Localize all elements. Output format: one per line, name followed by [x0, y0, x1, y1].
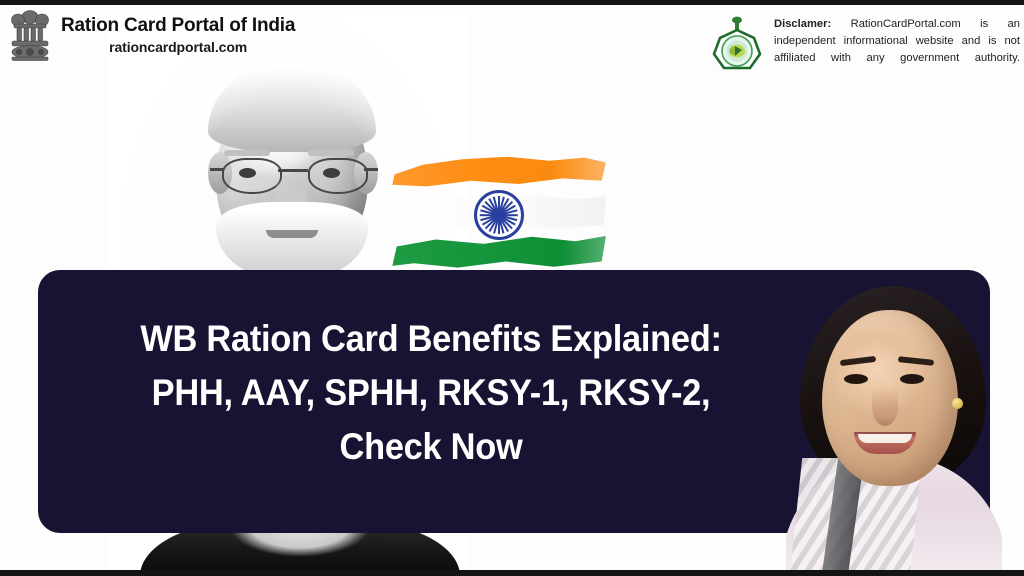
- brand-title: Ration Card Portal of India: [61, 16, 295, 35]
- banner-canvas: Ration Card Portal of India rationcardpo…: [0, 0, 1024, 576]
- mamata-teeth: [858, 434, 912, 443]
- ashoka-chakra-icon: [474, 190, 524, 240]
- disclaimer-label: Disclamer:: [774, 18, 831, 30]
- mamata-earring: [952, 398, 963, 409]
- hero-title-block: WB Ration Card Benefits Explained: PHH, …: [86, 312, 776, 474]
- top-edge-strip: [0, 0, 1024, 5]
- mamata-nose: [872, 388, 898, 426]
- mamata-eye-left: [844, 374, 868, 384]
- disclaimer-block: Disclamer: RationCardPortal.com is an in…: [710, 16, 1020, 74]
- hero-title-line-1: WB Ration Card Benefits Explained:: [110, 312, 752, 366]
- hero-title-line-2: PHH, AAY, SPHH, RKSY-1, RKSY-2,: [110, 366, 752, 420]
- brand-url: rationcardportal.com: [61, 40, 295, 54]
- bottom-edge-strip: [0, 570, 1024, 576]
- nfsa-green-emblem-icon: [710, 16, 764, 74]
- site-brand[interactable]: Ration Card Portal of India rationcardpo…: [8, 8, 295, 62]
- ashoka-lion-capital-emblem-icon: [8, 8, 52, 62]
- disclaimer-text: Disclamer: RationCardPortal.com is an in…: [774, 16, 1020, 67]
- brand-text-group: Ration Card Portal of India rationcardpo…: [61, 16, 295, 54]
- hero-title-line-3: Check Now: [110, 420, 752, 474]
- mamata-banerjee-portrait: [786, 276, 1002, 576]
- indian-tricolor-flag-icon: [388, 152, 610, 278]
- mamata-eye-right: [900, 374, 924, 384]
